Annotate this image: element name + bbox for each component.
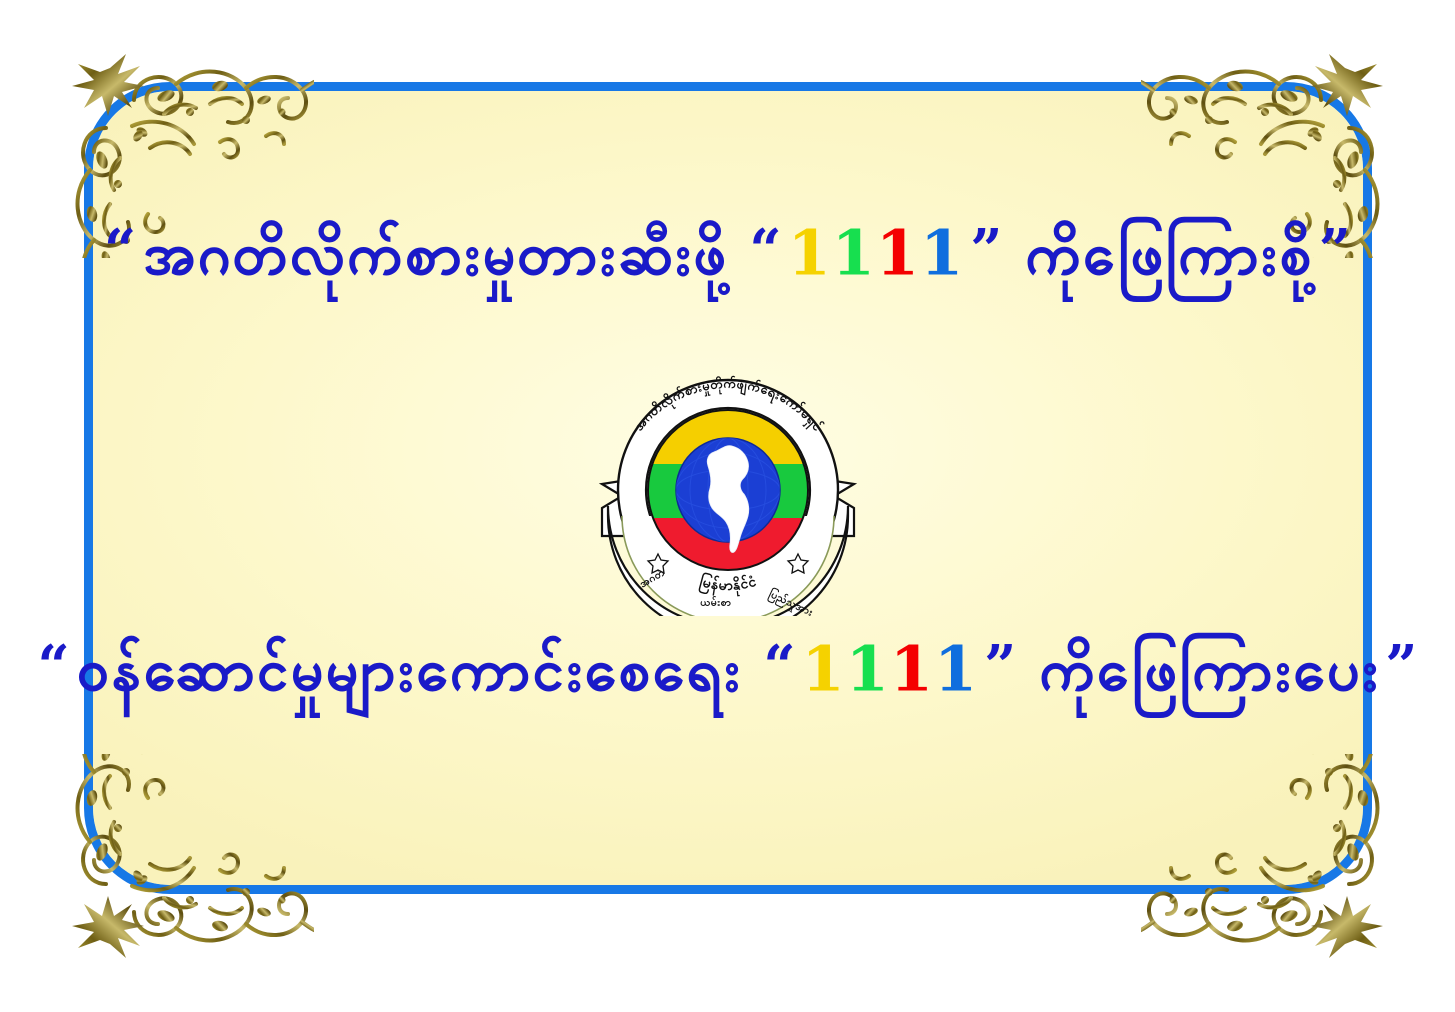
headline-top: “အဂတိလိုက်စားမှုတားဆီးဖို့“1111”ကိုဖြေကြ… [0,222,1455,291]
headline-bottom-text-after: ကိုဖြေကြားပေး [1038,633,1379,721]
seal-ribbon-center-text: ယမ်းစာ [700,596,731,612]
headline-top-text-before: အဂတိလိုက်စားမှုတားဆီးဖို့ [142,217,727,305]
myanmar-anti-corruption-commission-seal: အဂတိလိုက်စားမှုတိုက်ဖျက်ရေးကော်မရှင် မြန… [582,366,874,616]
hotline-digit-2-bottom: 1 [846,633,890,706]
hotline-digit-2-top: 1 [832,217,876,290]
headline-bottom: “ဝန်ဆောင်မှုများကောင်းစေရေး“1111”ကိုဖြေက… [0,638,1455,707]
headline-bottom-text-before: ဝန်ဆောင်မှုများကောင်းစေရေး [76,633,742,721]
hotline-digit-1-bottom: 1 [802,633,846,706]
poster-canvas: “အဂတိလိုက်စားမှုတားဆီးဖို့“1111”ကိုဖြေကြ… [0,0,1455,1012]
open-quote-top: “ [98,217,142,283]
hotline-digit-3-top: 1 [876,217,920,290]
hotline-digit-4-top: 1 [920,217,964,290]
hotline-open-quote-top: “ [743,217,787,283]
open-quote-bottom: “ [31,633,75,699]
hotline-digit-4-bottom: 1 [934,633,978,706]
hotline-open-quote-bottom: “ [757,633,801,699]
hotline-digit-1-top: 1 [788,217,832,290]
hotline-digit-3-bottom: 1 [890,633,934,706]
hotline-close-quote-top: ” [964,217,1008,283]
close-quote-bottom: ” [1379,633,1423,699]
close-quote-top: ” [1313,217,1357,283]
headline-top-text-after: ကိုဖြေကြားစို့ [1024,217,1312,305]
hotline-close-quote-bottom: ” [978,633,1022,699]
